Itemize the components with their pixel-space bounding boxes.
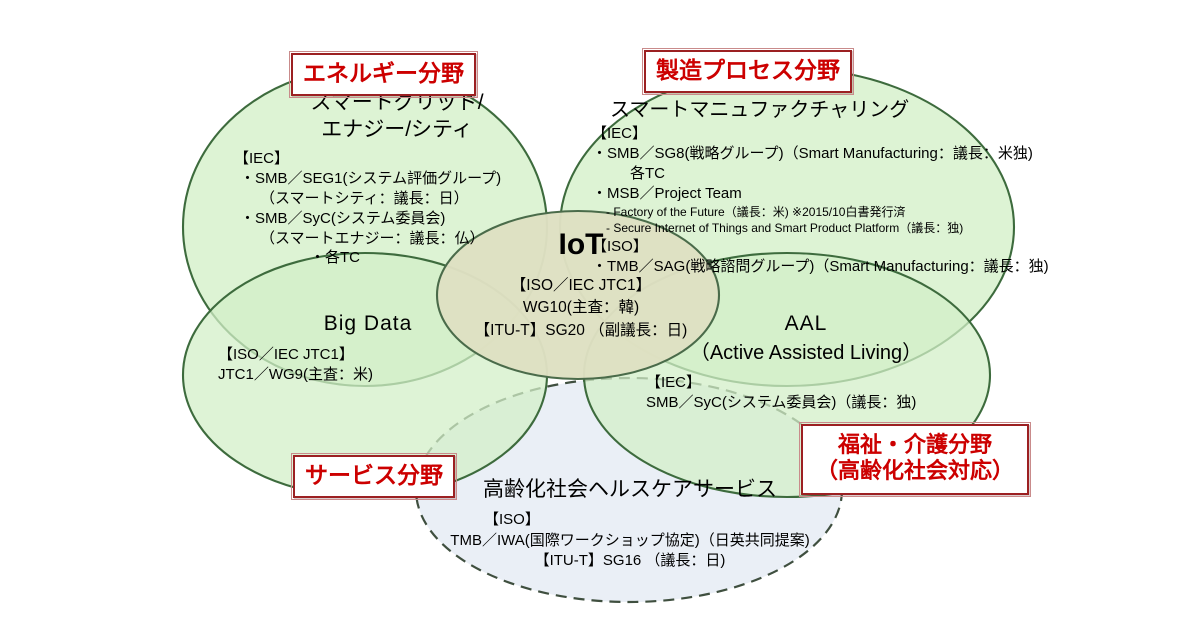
manufacturing-line-3: 各TC: [592, 164, 1062, 184]
bigdata-line-2: JTC1／WG9(主査：米): [218, 365, 518, 385]
tag-welfare-line1: 福祉・介護分野: [816, 432, 1014, 458]
manufacturing-line-4: ・MSB／Project Team: [592, 184, 1062, 204]
manufacturing-line-1: 【IEC】: [592, 124, 1062, 144]
region-bigdata-text: Big Data 【ISO／IEC JTC1】 JTC1／WG9(主査：米): [218, 312, 518, 385]
tag-manufacturing-domain[interactable]: 製造プロセス分野: [644, 50, 852, 93]
healthcare-line-2: TMB／IWA(国際ワークショップ協定)（日英共同提案): [440, 531, 820, 552]
energy-line-1: 【IEC】: [232, 149, 562, 169]
aal-line-2: SMB／SyC(システム委員会)（議長：独): [636, 393, 976, 413]
bigdata-title-line1: Big Data: [218, 312, 518, 336]
aal-title-line1: AAL: [636, 312, 976, 336]
energy-line-2: ・SMB／SEG1(システム評価グループ): [232, 169, 562, 189]
energy-line-3: （スマートシティ：議長：日）: [232, 189, 562, 209]
manufacturing-line-5: - Factory of the Future（議長：米) ※2015/10白書…: [592, 204, 1062, 220]
aal-title-line2: （Active Assisted Living）: [636, 336, 976, 365]
manufacturing-line-2: ・SMB／SG8(戦略グループ)（Smart Manufacturing：議長：…: [592, 144, 1062, 164]
manufacturing-title-line1: スマートマニュファクチャリング: [592, 93, 1062, 122]
tag-welfare-line2: （高齢化社会対応）: [816, 458, 1014, 484]
bigdata-line-1: 【ISO／IEC JTC1】: [218, 345, 518, 365]
energy-line-4: ・SMB／SyC(システム委員会): [232, 209, 562, 229]
region-aal-text: AAL （Active Assisted Living） 【IEC】 SMB／S…: [636, 312, 976, 413]
energy-title-line2: エナジー/シティ: [232, 117, 562, 144]
tag-energy-domain[interactable]: エネルギー分野: [291, 53, 476, 96]
tag-welfare-domain[interactable]: 福祉・介護分野 （高齢化社会対応）: [801, 424, 1029, 495]
healthcare-line-1: 【ISO】: [440, 510, 820, 531]
aal-line-1: 【IEC】: [636, 373, 976, 393]
healthcare-title-line1: 高齢化社会ヘルスケアサービス: [440, 473, 820, 503]
iot-line-1: 【ISO／IEC JTC1】: [452, 275, 710, 297]
tag-service-domain[interactable]: サービス分野: [293, 455, 455, 498]
diagram-canvas: スマートグリッド/ エナジー/シティ 【IEC】 ・SMB／SEG1(システム評…: [0, 0, 1200, 630]
iot-label: IoT: [452, 228, 710, 262]
region-healthcare-text: 高齢化社会ヘルスケアサービス 【ISO】 TMB／IWA(国際ワークショップ協定…: [440, 473, 820, 572]
healthcare-line-3: 【ITU-T】SG16 （議長：日): [440, 551, 820, 572]
